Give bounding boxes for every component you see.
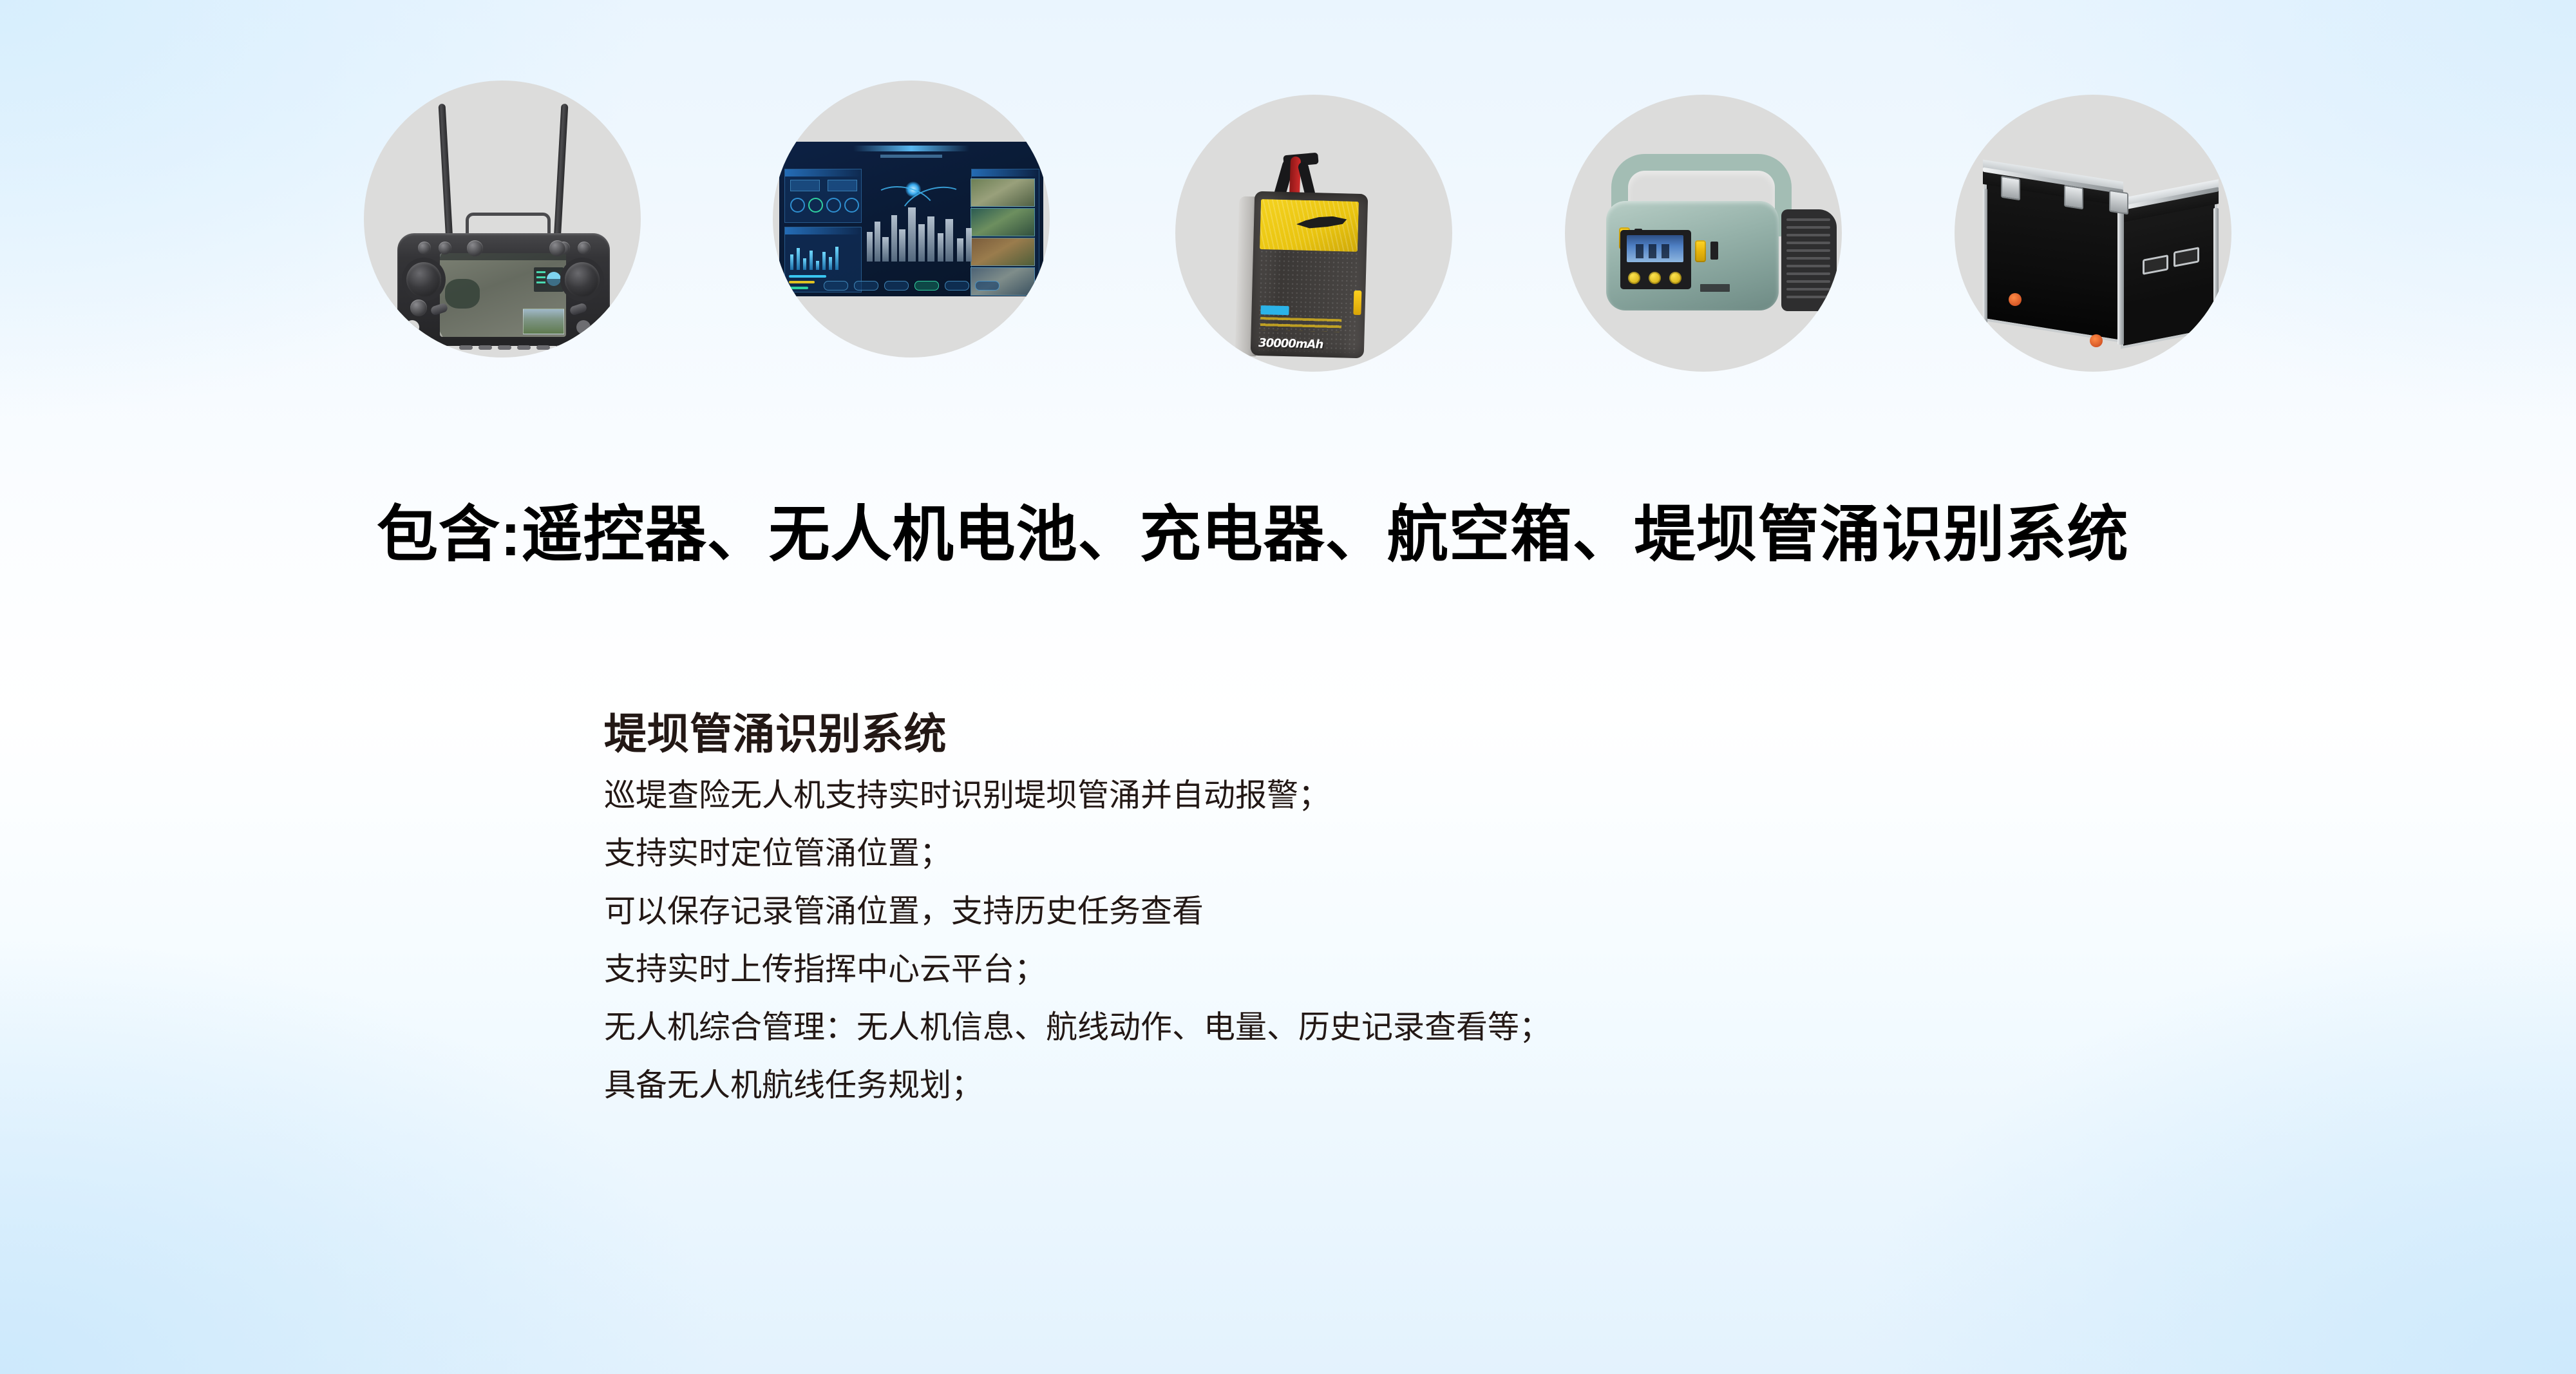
charger-brand-logo-icon (1700, 284, 1730, 292)
feature-item: 具备无人机航线任务规划； (604, 1056, 1551, 1114)
hud-bar (536, 281, 545, 283)
antenna-right-icon (553, 104, 569, 253)
nav-button[interactable] (824, 281, 848, 291)
chart-bar (810, 251, 813, 270)
record-button[interactable] (576, 320, 591, 334)
battery-capacity-label: 30000mAh (1258, 329, 1323, 352)
detail-title: 堤坝管涌识别系统 (604, 712, 1551, 756)
dashboard-stats-panel (784, 169, 862, 223)
chart-bar (790, 254, 793, 270)
nav-button[interactable] (854, 281, 878, 291)
knob-icon[interactable] (578, 242, 591, 254)
case-edge-rail (1983, 189, 1987, 332)
charger-button-3[interactable] (1669, 272, 1681, 284)
feature-item: 无人机综合管理：无人机信息、航线动作、电量、历史记录查看等； (604, 998, 1551, 1056)
battery-capacity-unit: mAh (1296, 337, 1323, 351)
product-circle-flight-case[interactable] (1955, 95, 2231, 372)
controller-map-screen (440, 253, 566, 337)
kpi-box (790, 180, 820, 191)
remote-controller-image (364, 81, 641, 358)
case-edge-rail (2213, 208, 2219, 336)
knob-icon[interactable] (418, 242, 431, 254)
dashboard-title-bar (853, 146, 969, 151)
dashboard-screen (779, 142, 1043, 296)
top-button-icon[interactable] (549, 240, 565, 256)
feature-item: 支持实时定位管涌位置； (604, 825, 1551, 883)
function-button[interactable] (556, 345, 569, 350)
camera-dial-icon[interactable] (410, 300, 427, 316)
nav-button-active[interactable] (914, 281, 939, 291)
product-circle-drone-battery[interactable]: 30000mAh (1175, 95, 1452, 372)
gauge-icon (790, 198, 805, 213)
command-platform-image (773, 81, 1050, 358)
charger-balance-slot-2[interactable] (1710, 242, 1718, 260)
feature-item: 巡堤查险无人机支持实时识别堤坝管涌并自动报警； (604, 767, 1551, 825)
battery-brand-label (1260, 199, 1359, 252)
nav-button[interactable] (945, 281, 969, 291)
case-latch-left[interactable] (2001, 176, 2020, 201)
knob-icon[interactable] (439, 242, 451, 254)
charger-image (1565, 95, 1842, 372)
case-caster-wheel (2090, 334, 2103, 347)
gauge-icon (826, 198, 841, 213)
product-circle-remote-controller[interactable] (364, 81, 641, 358)
screen-topbar (440, 253, 566, 260)
screen-hud (534, 267, 563, 292)
dashboard-subtitle-bar (880, 155, 942, 158)
case-edge-rail (2117, 193, 2124, 345)
feature-item: 支持实时上传指挥中心云平台； (604, 940, 1551, 998)
drone-battery-image: 30000mAh (1175, 95, 1452, 372)
page-title: 包含:遥控器、无人机电池、充电器、航空箱、堤坝管涌识别系统 (377, 501, 2129, 569)
nav-button[interactable] (884, 281, 909, 291)
hud-bar (536, 276, 545, 278)
case-latch-right[interactable] (2109, 190, 2128, 215)
chart-bar (835, 247, 838, 270)
case-latch-center[interactable] (2064, 185, 2083, 210)
aerial-thumbnail[interactable] (971, 208, 1035, 236)
aerial-thumbnail[interactable] (971, 238, 1035, 266)
dashboard-feed-panel (971, 169, 1039, 292)
product-circle-command-platform[interactable] (773, 81, 1050, 358)
charger-lcd-display (1627, 235, 1683, 262)
aerial-thumbnail[interactable] (971, 178, 1035, 207)
map-water-area (445, 279, 480, 309)
charger-output-port-2[interactable] (1695, 240, 1706, 262)
chart-bar (822, 252, 826, 270)
hud-bar (536, 271, 545, 273)
chart-bar (797, 248, 800, 270)
charger-button-2[interactable] (1649, 272, 1661, 284)
top-button-icon[interactable] (467, 240, 483, 256)
nav-button[interactable] (975, 281, 999, 291)
function-button[interactable] (498, 345, 511, 350)
battery-body: 30000mAh (1251, 191, 1368, 359)
battery-xt-connector (1353, 291, 1361, 315)
joystick-left[interactable] (406, 262, 441, 297)
case-caster-wheel (2009, 293, 2022, 306)
gauge-icon (844, 198, 859, 213)
battery-capacity-value: 30000 (1258, 336, 1296, 351)
dashboard-nav-bar[interactable] (795, 280, 1028, 291)
product-gallery: 30000mAh (0, 0, 2576, 451)
power-button[interactable] (405, 320, 419, 334)
feature-item: 可以保存记录管涌位置，支持历史任务查看 (604, 883, 1551, 940)
charger-vent-grille (1781, 209, 1837, 311)
function-button[interactable] (478, 345, 492, 350)
gauge-icon (808, 198, 823, 213)
product-circle-charger[interactable] (1565, 95, 1842, 372)
detail-section: 堤坝管涌识别系统 巡堤查险无人机支持实时识别堤坝管涌并自动报警； 支持实时定位管… (604, 712, 1551, 1114)
function-button[interactable] (517, 345, 531, 350)
flight-case-image (1955, 95, 2231, 372)
bar-chart (790, 243, 838, 270)
feature-list: 巡堤查险无人机支持实时识别堤坝管涌并自动报警； 支持实时定位管涌位置； 可以保存… (604, 767, 1551, 1114)
function-button[interactable] (536, 345, 550, 350)
joystick-right[interactable] (565, 262, 600, 297)
screen-picture-in-picture (523, 309, 564, 334)
antenna-left-icon (439, 104, 454, 253)
chart-bar (816, 261, 819, 270)
battery-logo-icon (1296, 215, 1347, 231)
product-detail-page: 30000mAh (0, 0, 2576, 1374)
chart-bar (829, 257, 832, 270)
kpi-box (828, 180, 857, 191)
battery-brand-badge (1260, 305, 1289, 315)
chart-bar (803, 258, 806, 270)
charger-control-panel[interactable] (1620, 230, 1691, 289)
progress-bar (789, 275, 826, 278)
function-button[interactable] (459, 345, 473, 350)
charger-button-1[interactable] (1628, 272, 1640, 284)
attitude-indicator-icon (547, 272, 561, 286)
function-button-row[interactable] (459, 345, 569, 350)
